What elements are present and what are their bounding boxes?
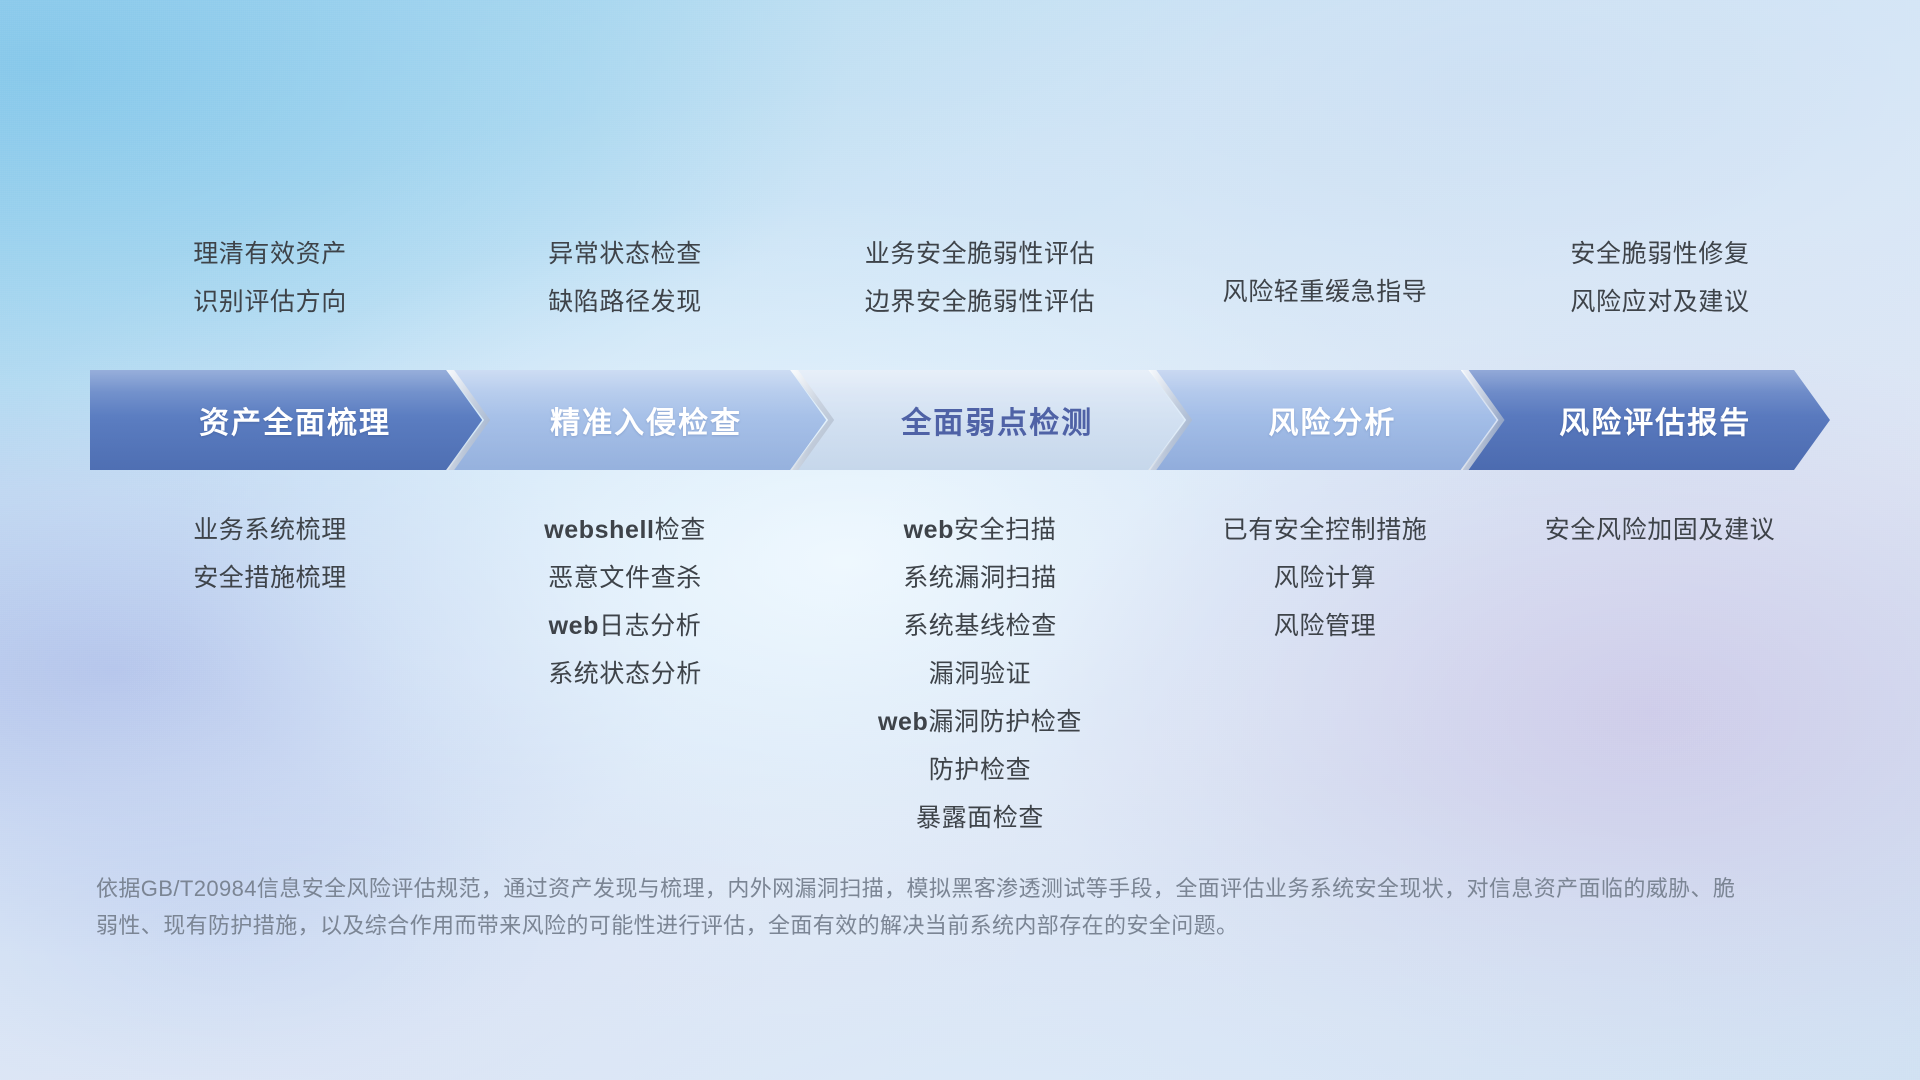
bottom-detail-columns: 业务系统梳理安全措施梳理webshell检查恶意文件查杀web日志分析系统状态分… <box>90 506 1830 842</box>
below-item-emphasis: web <box>904 516 954 544</box>
top-detail-column-risk-analysis: 风险轻重缓急指导 <box>1160 230 1490 316</box>
bottom-detail-column-asset-inventory: 业务系统梳理安全措施梳理 <box>90 506 450 602</box>
below-item: 风险管理 <box>1274 602 1376 650</box>
process-step-title: 风险分析 <box>1268 398 1396 442</box>
process-step-title: 全面弱点检测 <box>901 398 1093 442</box>
top-detail-columns: 理清有效资产识别评估方向异常状态检查缺陷路径发现业务安全脆弱性评估边界安全脆弱性… <box>90 230 1830 326</box>
below-item: web安全扫描 <box>904 506 1057 554</box>
bottom-detail-column-weakness-detection: web安全扫描系统漏洞扫描系统基线检查漏洞验证web漏洞防护检查防护检查暴露面检… <box>800 506 1160 842</box>
below-item: webshell检查 <box>544 506 706 554</box>
above-item: 边界安全脆弱性评估 <box>865 278 1095 326</box>
below-item-emphasis: webshell <box>544 516 654 544</box>
above-item: 理清有效资产 <box>193 230 347 278</box>
above-item: 业务安全脆弱性评估 <box>865 230 1095 278</box>
below-item: 恶意文件查杀 <box>548 554 702 602</box>
process-step-risk-analysis[interactable]: 风险分析 <box>1150 370 1496 470</box>
footer-description: 依据GB/T20984信息安全风险评估规范，通过资产发现与梳理，内外网漏洞扫描，… <box>96 870 1736 944</box>
below-item: 风险计算 <box>1274 554 1376 602</box>
above-item: 风险应对及建议 <box>1570 278 1749 326</box>
below-item: 系统漏洞扫描 <box>903 554 1057 602</box>
above-item: 识别评估方向 <box>193 278 347 326</box>
bottom-detail-column-intrusion-check: webshell检查恶意文件查杀web日志分析系统状态分析 <box>450 506 800 698</box>
below-item: 系统基线检查 <box>903 602 1057 650</box>
top-detail-column-weakness-detection: 业务安全脆弱性评估边界安全脆弱性评估 <box>800 230 1160 326</box>
below-item-emphasis: web <box>878 708 928 736</box>
slide-content: 理清有效资产识别评估方向异常状态检查缺陷路径发现业务安全脆弱性评估边界安全脆弱性… <box>0 0 1920 1080</box>
above-item: 缺陷路径发现 <box>548 278 702 326</box>
below-item-emphasis: web <box>549 612 599 640</box>
below-item: web漏洞防护检查 <box>878 698 1082 746</box>
below-item: web日志分析 <box>549 602 702 650</box>
below-item: 已有安全控制措施 <box>1223 506 1428 554</box>
below-item: 防护检查 <box>929 746 1031 794</box>
top-detail-column-asset-inventory: 理清有效资产识别评估方向 <box>90 230 450 326</box>
below-item: 安全风险加固及建议 <box>1545 506 1775 554</box>
below-item: 漏洞验证 <box>929 650 1031 698</box>
bottom-detail-column-risk-analysis: 已有安全控制措施风险计算风险管理 <box>1160 506 1490 650</box>
process-step-title: 风险评估报告 <box>1559 398 1751 442</box>
bottom-detail-column-assessment-report: 安全风险加固及建议 <box>1490 506 1830 554</box>
above-item: 安全脆弱性修复 <box>1570 230 1749 278</box>
below-item: 业务系统梳理 <box>193 506 347 554</box>
below-item: 暴露面检查 <box>916 794 1044 842</box>
process-arrow-bar: 资产全面梳理精准入侵检查全面弱点检测风险分析风险评估报告 <box>90 370 1830 470</box>
process-step-title: 资产全面梳理 <box>199 398 391 442</box>
below-item: 系统状态分析 <box>548 650 702 698</box>
above-item: 异常状态检查 <box>548 230 702 278</box>
top-detail-column-intrusion-check: 异常状态检查缺陷路径发现 <box>450 230 800 326</box>
process-step-intrusion-check[interactable]: 精准入侵检查 <box>448 370 826 470</box>
process-step-title: 精准入侵检查 <box>550 398 742 442</box>
process-step-asset-inventory[interactable]: 资产全面梳理 <box>90 370 482 470</box>
process-step-weakness-detection[interactable]: 全面弱点检测 <box>792 370 1184 470</box>
process-step-assessment-report[interactable]: 风险评估报告 <box>1463 370 1830 470</box>
above-item: 风险轻重缓急指导 <box>1223 268 1428 316</box>
slide-canvas: 理清有效资产识别评估方向异常状态检查缺陷路径发现业务安全脆弱性评估边界安全脆弱性… <box>0 0 1920 1080</box>
top-detail-column-assessment-report: 安全脆弱性修复风险应对及建议 <box>1490 230 1830 326</box>
below-item: 安全措施梳理 <box>193 554 347 602</box>
